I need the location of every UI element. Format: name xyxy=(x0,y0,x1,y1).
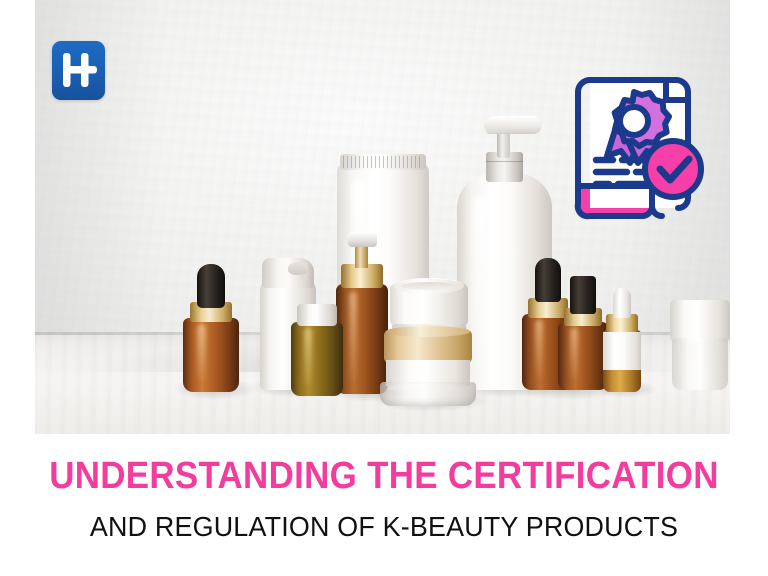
right-short-dropper-glass xyxy=(558,322,608,390)
certificate-icon-graphic xyxy=(565,68,715,223)
spray-stem xyxy=(355,244,368,268)
h-monogram-icon xyxy=(52,41,105,100)
page-subtitle: AND REGULATION OF K-BEAUTY PRODUCTS xyxy=(15,495,752,541)
left-dropper-glass xyxy=(183,318,239,392)
right-jar-lid xyxy=(670,300,730,342)
small-dropper-label xyxy=(603,332,641,370)
pump-head xyxy=(486,116,542,134)
spray-nozzle xyxy=(348,232,377,247)
right-short-black-cap xyxy=(570,276,596,314)
amber-serum-glass xyxy=(291,322,343,396)
lotion-cap xyxy=(262,258,314,288)
small-dropper-white-bulb xyxy=(613,288,631,318)
gold-cream-jar xyxy=(380,330,476,402)
clear-glass-jar-right xyxy=(670,300,730,396)
right-jar-glass xyxy=(672,338,728,390)
certificate-document-icon[interactable] xyxy=(565,68,715,223)
gold-jar-glass-base xyxy=(380,382,476,406)
gold-jar-lid xyxy=(384,330,472,363)
pump-stem xyxy=(497,130,510,158)
title-block: UNDERSTANDING THE CERTIFICATION AND REGU… xyxy=(0,434,768,576)
amber-bottle-white-cap xyxy=(291,304,343,396)
tube-crimp-seal xyxy=(340,154,426,170)
amber-dropper-bottle-left xyxy=(183,264,239,392)
amber-serum-white-cap xyxy=(297,304,337,326)
check-circle-icon xyxy=(645,141,701,197)
small-labeled-dropper-bottle xyxy=(603,288,641,392)
white-jar-rim xyxy=(394,278,464,294)
h-monogram-logo[interactable] xyxy=(52,41,105,100)
left-dropper-black-bulb xyxy=(197,264,225,308)
page-title: UNDERSTANDING THE CERTIFICATION xyxy=(31,434,738,495)
hero-product-photo xyxy=(35,0,730,434)
amber-dropper-bottle-right-short xyxy=(558,276,608,390)
